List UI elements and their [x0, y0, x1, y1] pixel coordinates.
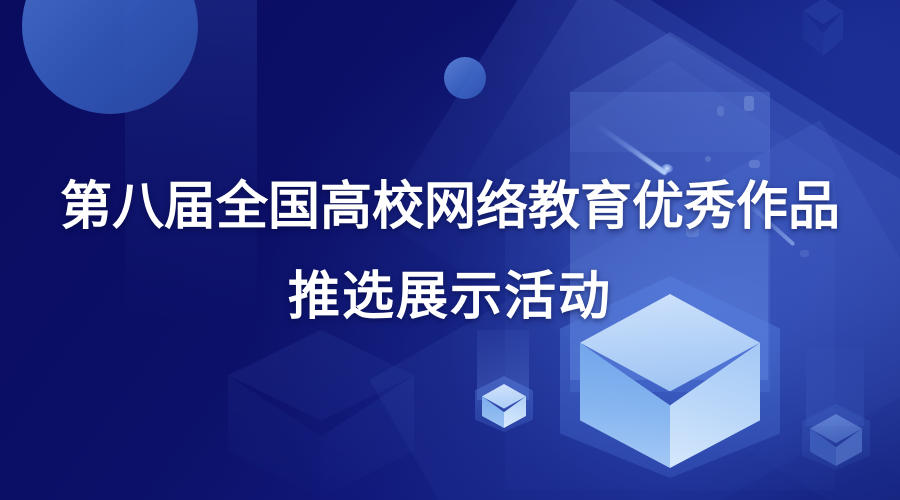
cube-main-icon	[580, 294, 760, 468]
particle-dot	[744, 96, 754, 111]
particle-dot	[705, 156, 711, 162]
cube-small-icon	[482, 384, 526, 428]
particle-dot	[800, 250, 809, 257]
cube-tiny-top-right-icon	[803, 0, 843, 56]
cube-dim-icon	[810, 414, 862, 466]
comet-head-icon	[661, 164, 673, 173]
cube-ghost-icon	[228, 330, 414, 498]
event-banner: 第八届全国高校网络教育优秀作品 推选展示活动	[0, 0, 900, 500]
background-decoration-layer	[0, 0, 900, 500]
particle-dot	[634, 182, 641, 189]
particle-dot	[749, 160, 760, 168]
particle-dot	[717, 106, 724, 116]
